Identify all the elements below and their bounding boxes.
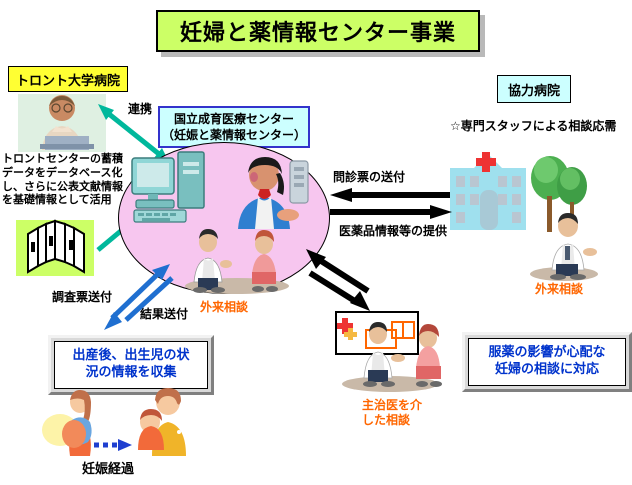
- woman-on-phone-icon: [228, 155, 314, 233]
- toronto-hospital-label: トロント大学病院: [16, 70, 120, 89]
- doctor-icon: [524, 212, 604, 282]
- questionnaire-label: 問診票の送付: [333, 168, 405, 185]
- gp-consult-caption: 主治医を介 した相談: [362, 398, 422, 428]
- birth-info-box: 出産後、出生児の状 況の情報を収集: [48, 335, 214, 395]
- medication-concern-line1: 服薬の影響が心配な: [488, 345, 605, 362]
- pregnancy-progress-caption: 妊娠経過: [82, 458, 134, 477]
- questionnaire-arrow: [330, 188, 452, 202]
- drug-info-label: 医薬品情報等の提供: [339, 222, 447, 239]
- center-to-gp-arrow: [300, 245, 380, 317]
- specialist-staff-note: ☆専門スタッフによる相談応需: [450, 117, 616, 134]
- hospital-consult-label: 外来相談: [535, 282, 583, 297]
- toronto-hospital-box: トロント大学病院: [8, 66, 128, 92]
- medication-concern-box-inner: 服薬の影響が心配な 妊婦の相談に対応: [468, 338, 626, 386]
- page-title-box: 妊婦と薬情報センター事業: [156, 10, 480, 52]
- birth-info-line2: 況の情報を収集: [72, 365, 189, 382]
- doctor-patient-consultation-icon: [178, 228, 296, 294]
- center-consult-label: 外来相談: [200, 300, 248, 315]
- center-survey-arrows: [98, 262, 178, 332]
- national-center-line2: （妊娠と薬情報センター）: [162, 127, 306, 143]
- books-icon: [14, 218, 98, 284]
- doctor-consultation-scene-icon: [322, 308, 458, 394]
- page-title: 妊婦と薬情報センター事業: [180, 15, 456, 47]
- national-center-line1: 国立成育医療センター: [174, 111, 294, 127]
- cooperating-hospital-label: 協力病院: [508, 80, 560, 99]
- drug-info-arrow: [330, 205, 452, 219]
- gp-consult-caption-line1: 主治医を介: [362, 398, 422, 413]
- birth-info-line1: 出産後、出生児の状: [72, 348, 189, 365]
- medication-concern-box: 服薬の影響が心配な 妊婦の相談に対応: [462, 332, 632, 392]
- gp-consult-caption-line2: した相談: [362, 413, 422, 428]
- mother-with-baby-icon: [128, 388, 200, 458]
- cooperating-hospital-box: 協力病院: [497, 75, 571, 103]
- medication-concern-line2: 妊婦の相談に対応: [488, 362, 605, 379]
- birth-info-box-inner: 出産後、出生児の状 況の情報を収集: [54, 341, 208, 389]
- desktop-computer-icon: [130, 150, 212, 232]
